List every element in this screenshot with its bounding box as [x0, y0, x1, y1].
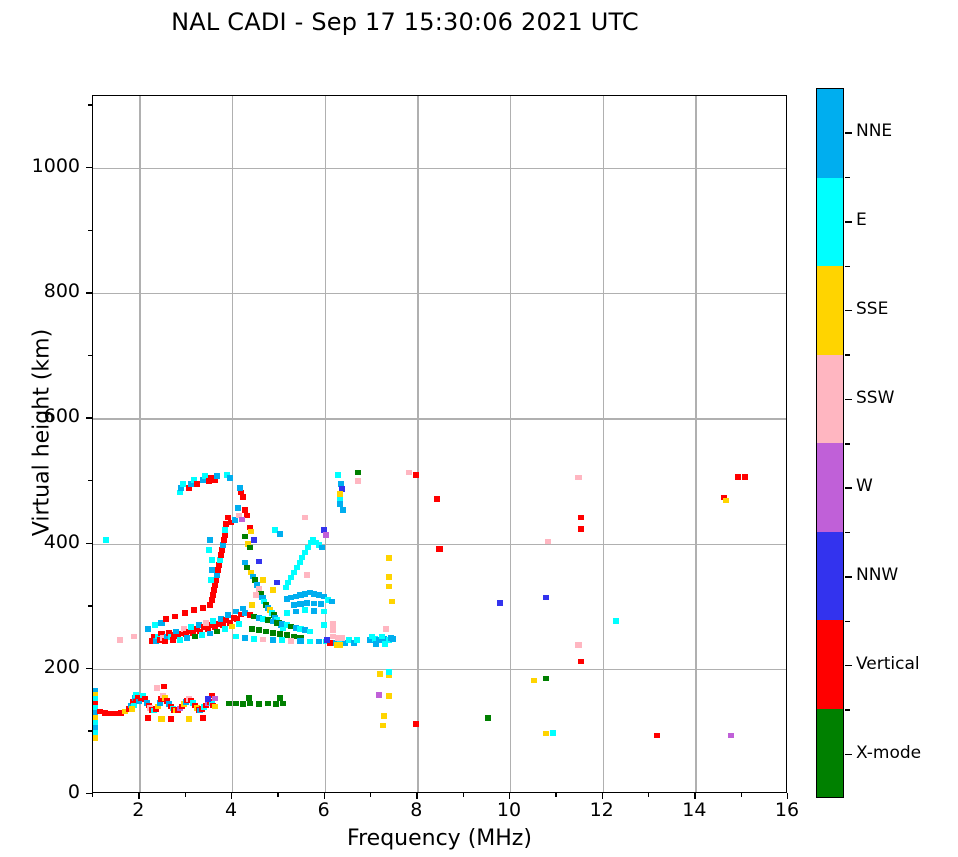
y-tick-major: [86, 292, 92, 293]
echo-point: [256, 701, 262, 707]
echo-point: [413, 721, 419, 727]
echo-point: [293, 609, 299, 615]
x-tick-label: 10: [479, 799, 539, 821]
echo-point: [379, 634, 385, 640]
echo-point: [256, 559, 262, 565]
echo-point: [302, 607, 308, 613]
echo-point: [388, 635, 394, 641]
x-tick-label: 4: [201, 799, 261, 821]
echo-point: [294, 565, 300, 571]
echo-point: [239, 517, 245, 523]
echo-point: [550, 730, 556, 736]
echo-point: [339, 635, 345, 641]
echo-point: [212, 696, 218, 702]
echo-point: [227, 475, 233, 481]
echo-point: [208, 577, 214, 583]
echo-point: [251, 636, 257, 642]
echo-point: [217, 557, 223, 563]
echo-point: [207, 631, 213, 637]
colorbar-boundary-tick: [845, 621, 850, 623]
echo-point: [199, 632, 205, 638]
echo-point: [337, 501, 343, 507]
page-title: NAL CADI - Sep 17 15:30:06 2021 UTC: [0, 8, 810, 36]
echo-point: [273, 701, 279, 707]
colorbar-label-e: E: [856, 210, 867, 230]
echo-point: [319, 545, 325, 551]
echo-point: [291, 602, 297, 608]
echo-point: [324, 637, 330, 643]
echo-point: [318, 601, 324, 607]
echo-point: [131, 634, 137, 640]
colorbar-tick: [845, 399, 852, 401]
echo-point: [321, 622, 327, 628]
echo-point: [214, 473, 220, 479]
colorbar-tick: [845, 576, 852, 578]
echo-point: [304, 572, 310, 578]
echo-point: [270, 637, 276, 643]
colorbar-segment-vertical: [817, 620, 843, 709]
colorbar-segment-w: [817, 443, 843, 532]
echo-point: [256, 627, 262, 633]
y-tick-minor: [88, 104, 92, 105]
echo-point: [249, 626, 255, 632]
echo-point: [386, 693, 392, 699]
echo-point: [578, 526, 584, 532]
colorbar-segment-nne: [817, 89, 843, 178]
echo-point: [213, 577, 219, 583]
echo-point: [330, 627, 336, 633]
echo-point: [229, 624, 235, 630]
echo-point: [728, 733, 734, 739]
echo-point: [172, 614, 178, 620]
x-tick-label: 16: [757, 799, 817, 821]
colorbar-label-w: W: [856, 476, 873, 496]
echo-point: [240, 701, 246, 707]
echo-point: [288, 638, 294, 644]
echo-point: [373, 641, 379, 647]
echo-point: [340, 507, 346, 513]
x-tick-minor: [555, 793, 556, 797]
colorbar-tick: [845, 132, 852, 134]
echo-point: [380, 723, 386, 729]
echo-point: [200, 715, 206, 721]
echo-point: [211, 587, 217, 593]
y-tick-minor: [88, 605, 92, 606]
echo-point: [184, 635, 190, 641]
echo-point: [383, 626, 389, 632]
echo-point: [575, 475, 581, 481]
echo-point: [263, 629, 269, 635]
echo-point: [209, 557, 215, 563]
echo-point: [377, 671, 383, 677]
colorbar-boundary-tick: [845, 532, 850, 534]
echo-point: [337, 491, 343, 497]
echo-point: [485, 715, 491, 721]
echo-point: [330, 634, 336, 640]
echo-point: [206, 547, 212, 553]
echo-point: [212, 704, 218, 710]
echo-point: [168, 716, 174, 722]
colorbar-boundary-tick: [845, 443, 850, 445]
colorbar-segment-x-mode: [817, 709, 843, 798]
colorbar-tick: [845, 487, 852, 489]
echo-point: [161, 684, 167, 690]
echo-point: [251, 537, 257, 543]
echo-point: [226, 701, 232, 707]
echo-point: [323, 532, 329, 538]
x-tick-label: 14: [664, 799, 724, 821]
echo-point: [277, 631, 283, 637]
echo-point: [386, 669, 392, 675]
echo-point: [237, 485, 243, 491]
echo-point: [180, 481, 186, 487]
colorbar-tick: [845, 754, 852, 756]
colorbar-label-nne: NNE: [856, 121, 892, 141]
echo-point: [316, 639, 322, 645]
echo-point: [654, 733, 660, 739]
echo-point: [209, 567, 215, 573]
echo-point: [288, 575, 294, 581]
echo-point: [297, 560, 303, 566]
x-tick-label: 2: [108, 799, 168, 821]
echo-point: [233, 634, 239, 640]
colorbar-label-x-mode: X-mode: [856, 743, 921, 763]
echo-point: [233, 701, 239, 707]
echo-point: [302, 515, 308, 521]
echo-point: [207, 537, 213, 543]
echo-point: [285, 580, 291, 586]
echo-point: [382, 641, 388, 647]
x-tick-minor: [648, 793, 649, 797]
colorbar-segment-nnw: [817, 532, 843, 621]
echo-point: [274, 580, 280, 586]
echo-point: [182, 610, 188, 616]
colorbar-tick: [845, 665, 852, 667]
echo-point: [219, 547, 225, 553]
x-tick-label: 12: [572, 799, 632, 821]
echo-point: [236, 621, 242, 627]
echo-point: [413, 472, 419, 478]
echo-point: [531, 678, 537, 684]
echo-point: [152, 622, 158, 628]
echo-point: [215, 567, 221, 573]
echo-point: [575, 642, 581, 648]
echo-point: [355, 478, 361, 484]
echo-point: [311, 608, 317, 614]
echo-point: [302, 550, 308, 556]
echo-point: [186, 716, 192, 722]
x-tick-minor: [463, 793, 464, 797]
echo-point: [207, 602, 213, 608]
echo-point: [386, 555, 392, 561]
y-tick-major: [86, 793, 92, 794]
colorbar-segment-ssw: [817, 355, 843, 444]
echo-point: [214, 629, 220, 635]
echo-point: [117, 637, 123, 643]
colorbar-boundary-tick: [845, 266, 850, 268]
echo-point: [723, 498, 729, 504]
echo-point: [279, 637, 285, 643]
echo-point: [337, 642, 343, 648]
echo-point: [270, 630, 276, 636]
echo-point: [297, 638, 303, 644]
colorbar-segment-sse: [817, 266, 843, 355]
echo-point: [247, 701, 253, 707]
ionogram-scatter-data: [93, 96, 786, 792]
x-tick-minor: [92, 793, 93, 797]
colorbar-tick: [845, 310, 852, 312]
echo-point: [386, 584, 392, 590]
echo-point: [246, 695, 252, 701]
echo-point: [742, 474, 748, 480]
echo-point: [222, 527, 228, 533]
echo-point: [103, 537, 109, 543]
x-tick-minor: [185, 793, 186, 797]
echo-point: [93, 735, 98, 741]
echo-point: [200, 605, 206, 611]
x-axis-title: Frequency (MHz): [92, 826, 787, 851]
echo-point: [260, 577, 266, 583]
echo-point: [389, 599, 395, 605]
echo-point: [277, 695, 283, 701]
echo-point: [247, 545, 253, 551]
colorbar-label-nnw: NNW: [856, 565, 898, 585]
echo-point: [369, 634, 375, 640]
echo-point: [297, 601, 303, 607]
x-tick-minor: [741, 793, 742, 797]
echo-point: [145, 715, 151, 721]
echo-point: [221, 537, 227, 543]
echo-point: [436, 546, 442, 552]
echo-point: [222, 626, 228, 632]
echo-point: [214, 572, 220, 578]
colorbar-label-sse: SSE: [856, 299, 888, 319]
echo-point: [240, 494, 246, 500]
echo-point: [305, 545, 311, 551]
echo-point: [205, 696, 211, 702]
echo-point: [249, 602, 255, 608]
y-tick-minor: [88, 730, 92, 731]
echo-point: [291, 570, 297, 576]
echo-point: [265, 701, 271, 707]
echo-point: [218, 552, 224, 558]
echo-point: [311, 601, 317, 607]
echo-point: [329, 599, 335, 605]
echo-point: [613, 618, 619, 624]
y-tick-major: [86, 417, 92, 418]
y-tick-minor: [88, 480, 92, 481]
echo-point: [376, 692, 382, 698]
echo-point: [277, 531, 283, 537]
echo-point: [216, 562, 222, 568]
echo-point: [163, 616, 169, 622]
echo-point: [578, 659, 584, 665]
echo-point: [280, 701, 286, 707]
echo-point: [154, 685, 160, 691]
y-tick-major: [86, 543, 92, 544]
echo-point: [194, 481, 200, 487]
colorbar-boundary-tick: [845, 354, 850, 356]
echo-point: [145, 626, 151, 632]
echo-point: [543, 676, 549, 682]
y-axis-title: Virtual height (km): [30, 283, 55, 583]
echo-point: [355, 470, 361, 476]
echo-point: [307, 629, 313, 635]
echo-point: [222, 532, 228, 538]
echo-point: [158, 716, 164, 722]
echo-point: [242, 534, 248, 540]
colorbar-label-vertical: Vertical: [856, 654, 920, 674]
echo-point: [191, 607, 197, 613]
echo-point: [497, 600, 503, 606]
echo-point: [248, 529, 254, 535]
echo-point: [335, 472, 341, 478]
echo-point: [381, 713, 387, 719]
echo-point: [253, 592, 259, 598]
echo-point: [177, 637, 183, 643]
y-tick-label: 1000: [0, 155, 80, 177]
colorbar-label-ssw: SSW: [856, 388, 894, 408]
echo-point: [354, 637, 360, 643]
echo-point: [235, 505, 241, 511]
echo-point: [299, 555, 305, 561]
echo-point: [543, 731, 549, 737]
echo-point: [304, 600, 310, 606]
echo-point: [307, 639, 313, 645]
echo-point: [260, 637, 266, 643]
echo-point: [220, 542, 226, 548]
echo-point: [735, 474, 741, 480]
x-tick-label: 6: [294, 799, 354, 821]
y-tick-label: 0: [0, 781, 80, 803]
x-tick-label: 8: [386, 799, 446, 821]
x-tick-minor: [370, 793, 371, 797]
y-tick-minor: [88, 230, 92, 231]
echo-point: [242, 635, 248, 641]
echo-point: [321, 609, 327, 615]
echo-point: [283, 585, 289, 591]
y-tick-minor: [88, 355, 92, 356]
echo-point: [406, 470, 412, 476]
echo-point: [284, 610, 290, 616]
y-tick-label: 200: [0, 656, 80, 678]
colorbar-boundary-tick: [845, 177, 850, 179]
echo-point: [210, 592, 216, 598]
ionogram-figure: NAL CADI - Sep 17 15:30:06 2021 UTC 2468…: [0, 0, 958, 857]
echo-point: [434, 496, 440, 502]
colorbar-segment-e: [817, 178, 843, 267]
echo-point: [386, 574, 392, 580]
echo-point: [545, 539, 551, 545]
echo-point: [129, 706, 135, 712]
echo-point: [330, 621, 336, 627]
y-tick-major: [86, 668, 92, 669]
echo-point: [209, 597, 215, 603]
echo-point: [212, 582, 218, 588]
colorbar-tick: [845, 221, 852, 223]
echo-point: [270, 587, 276, 593]
colorbar-boundary-tick: [845, 709, 850, 711]
echo-point: [192, 634, 198, 640]
echo-point: [578, 515, 584, 521]
echo-point: [543, 595, 549, 601]
x-tick-minor: [277, 793, 278, 797]
azimuth-colorbar: [816, 88, 844, 798]
y-tick-major: [86, 167, 92, 168]
